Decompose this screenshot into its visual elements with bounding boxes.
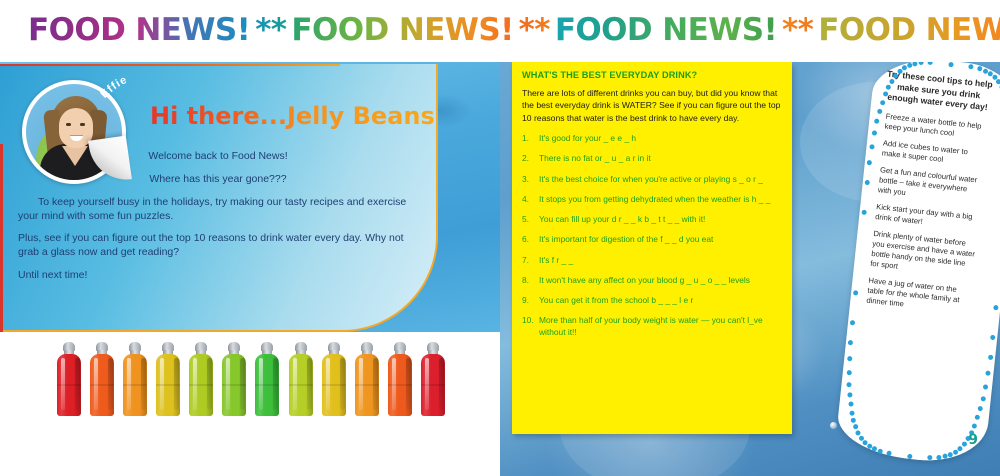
list-item-number: 10. <box>522 315 539 338</box>
list-item-text: It's the best choice for when you're act… <box>539 174 782 185</box>
bottle-band <box>322 384 346 386</box>
bottle <box>155 342 181 416</box>
masthead-separator-1: ** <box>250 15 291 46</box>
masthead-title-4: FOOD NEWS! <box>818 15 1000 46</box>
quiz-list: 1.It's good for your _ e e _ h 2.There i… <box>522 133 782 338</box>
list-item-text: More than half of your body weight is wa… <box>539 315 782 338</box>
bottle <box>122 342 148 416</box>
list-item: 5.You can fill up your d r _ _ k b _ t t… <box>522 214 782 225</box>
bottle-row <box>56 334 446 416</box>
right-page: WHAT'S THE BEST EVERYDAY DRINK? There ar… <box>500 62 1000 476</box>
bottle <box>321 342 347 416</box>
bottle <box>56 342 82 416</box>
bottle <box>89 342 115 416</box>
bottle-band <box>189 384 213 386</box>
tip-item: Get a fun and colourful water bottle – t… <box>874 165 985 206</box>
list-item-number: 5. <box>522 214 539 225</box>
article-title: WHAT'S THE BEST EVERYDAY DRINK? <box>522 70 782 80</box>
bottle <box>254 342 280 416</box>
letter-paragraph-3: To keep yourself busy in the holidays, t… <box>18 196 418 224</box>
card-top-accent-line <box>0 64 340 66</box>
list-item: 10.More than half of your body weight is… <box>522 315 782 338</box>
tip-item: Have a jug of water on the table for the… <box>862 275 973 316</box>
bottle-band <box>388 384 412 386</box>
tip-item: Drink plenty of water before you exercis… <box>866 228 978 279</box>
newsletter-spread: FOOD NEWS! ** FOOD NEWS! ** FOOD NEWS! *… <box>0 0 1000 476</box>
list-item-number: 9. <box>522 295 539 306</box>
article-panel: WHAT'S THE BEST EVERYDAY DRINK? There ar… <box>512 62 792 434</box>
letter-paragraph-4: Plus, see if you can figure out the top … <box>18 232 418 260</box>
list-item: 4.It stops you from getting dehydrated w… <box>522 194 782 205</box>
list-item-text: There is no fat or _ u _ a r in it <box>539 153 782 164</box>
bottle-band <box>57 384 81 386</box>
list-item-text: You can fill up your d r _ _ k b _ t t _… <box>539 214 782 225</box>
bottle-band <box>123 384 147 386</box>
list-item: 9.You can get it from the school b _ _ _… <box>522 295 782 306</box>
list-item-number: 6. <box>522 234 539 245</box>
bottle-band <box>289 384 313 386</box>
portrait-smile <box>70 135 83 141</box>
list-item: 7.It's f r _ _ <box>522 255 782 266</box>
bottle-band <box>222 384 246 386</box>
list-item-text: It's f r _ _ <box>539 255 782 266</box>
letter-paragraph-5: Until next time! <box>18 269 418 283</box>
list-item-text: You can get it from the school b _ _ _ l… <box>539 295 782 306</box>
avatar: Effie <box>22 80 126 184</box>
list-item-text: It stops you from getting dehydrated whe… <box>539 194 782 205</box>
tip-item: Kick start your day with a big drink of … <box>871 201 981 232</box>
portrait-eye-right <box>80 123 85 126</box>
list-item-text: It won't have any affect on your blood g… <box>539 275 782 286</box>
bottle-band <box>156 384 180 386</box>
masthead-separator-3: ** <box>777 15 818 46</box>
masthead: FOOD NEWS! ** FOOD NEWS! ** FOOD NEWS! *… <box>0 0 1000 60</box>
list-item: 8.It won't have any affect on your blood… <box>522 275 782 286</box>
bottle <box>387 342 413 416</box>
bottle <box>221 342 247 416</box>
list-item: 3.It's the best choice for when you're a… <box>522 174 782 185</box>
list-item-text: It's important for digestion of the f _ … <box>539 234 782 245</box>
masthead-title-3: FOOD NEWS! <box>555 15 777 46</box>
portrait-eye-left <box>66 123 71 126</box>
masthead-separator-2: ** <box>514 15 555 46</box>
list-item-number: 8. <box>522 275 539 286</box>
card-left-accent-line <box>0 144 3 332</box>
bottle <box>188 342 214 416</box>
left-page: Hi there...Jelly Beans Welcome back to F… <box>0 62 500 476</box>
bottle-band <box>355 384 379 386</box>
tip-item: Freeze a water bottle to help keep your … <box>880 111 990 142</box>
list-item-number: 2. <box>522 153 539 164</box>
masthead-title-2: FOOD NEWS! <box>291 15 513 46</box>
bottle-band <box>421 384 445 386</box>
list-item-number: 7. <box>522 255 539 266</box>
tips-bubble-heading: Try these cool tips to help make sure yo… <box>883 68 994 114</box>
page-number-right: 9 <box>968 432 978 448</box>
list-item-number: 1. <box>522 133 539 144</box>
masthead-title-1: FOOD NEWS! <box>28 15 250 46</box>
bottle-band <box>90 384 114 386</box>
list-item: 2.There is no fat or _ u _ a r in it <box>522 153 782 164</box>
greeting-heading: Hi there...Jelly Beans <box>150 102 435 130</box>
list-item-number: 4. <box>522 194 539 205</box>
bottle-band <box>255 384 279 386</box>
bottle <box>420 342 446 416</box>
tip-item: Add ice cubes to water to make it super … <box>877 138 987 169</box>
list-item-text: It's good for your _ e e _ h <box>539 133 782 144</box>
bottle <box>354 342 380 416</box>
list-item: 1.It's good for your _ e e _ h <box>522 133 782 144</box>
list-item-number: 3. <box>522 174 539 185</box>
list-item: 6.It's important for digestion of the f … <box>522 234 782 245</box>
portrait-collar <box>62 146 88 166</box>
bottle <box>288 342 314 416</box>
article-intro: There are lots of different drinks you c… <box>522 87 782 124</box>
